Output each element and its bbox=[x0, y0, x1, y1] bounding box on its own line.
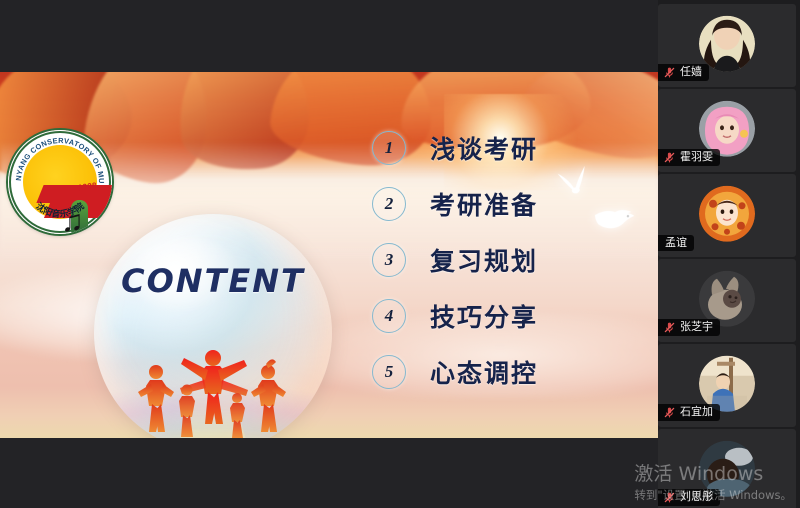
participant-tile[interactable]: 孟谊 bbox=[658, 174, 796, 257]
participant-name: 任嫱 bbox=[680, 66, 702, 78]
avatar bbox=[699, 355, 755, 411]
avatar bbox=[699, 440, 755, 496]
list-item-label: 复习规划 bbox=[430, 242, 538, 278]
school-logo: ♫ 1938 SHENYANG CONSERVATORY OF MUSIC 沈阳… bbox=[8, 130, 112, 234]
list-item-number: 2 bbox=[372, 187, 406, 221]
shared-screen-stage[interactable]: ♫ 1938 SHENYANG CONSERVATORY OF MUSIC 沈阳… bbox=[0, 0, 658, 508]
content-heading: CONTENT bbox=[94, 262, 332, 300]
content-sphere: CONTENT bbox=[94, 214, 332, 438]
list-item: 1 浅谈考研 bbox=[372, 120, 642, 176]
participant-tile[interactable]: 刘思彤 bbox=[658, 429, 796, 508]
running-silhouettes-icon bbox=[94, 336, 332, 438]
list-item: 2 考研准备 bbox=[372, 176, 642, 232]
participant-name-bar: 任嫱 bbox=[658, 64, 709, 81]
participant-name: 霍羽雯 bbox=[680, 151, 713, 163]
participant-name: 孟谊 bbox=[665, 237, 687, 249]
mic-muted-icon bbox=[663, 151, 676, 164]
participant-name-bar: 霍羽雯 bbox=[658, 149, 720, 166]
mic-muted-icon bbox=[663, 491, 676, 504]
list-item-number: 3 bbox=[372, 243, 406, 277]
participant-name: 张芝宇 bbox=[680, 321, 713, 333]
participant-name: 石宜加 bbox=[680, 406, 713, 418]
participant-name-bar: 刘思彤 bbox=[658, 489, 720, 506]
list-item-number: 4 bbox=[372, 299, 406, 333]
avatar bbox=[699, 15, 755, 71]
list-item-number: 5 bbox=[372, 355, 406, 389]
list-item: 4 技巧分享 bbox=[372, 288, 642, 344]
participant-tile[interactable]: 石宜加 bbox=[658, 344, 796, 427]
participant-tile[interactable]: 任嫱 bbox=[658, 4, 796, 87]
meeting-window: ♫ 1938 SHENYANG CONSERVATORY OF MUSIC 沈阳… bbox=[0, 0, 800, 508]
list-item-number: 1 bbox=[372, 131, 406, 165]
list-item-label: 技巧分享 bbox=[430, 298, 538, 334]
participant-name-bar: 孟谊 bbox=[658, 235, 694, 251]
participant-filmstrip[interactable]: 任嫱 bbox=[658, 0, 800, 508]
svg-text:沈阳音乐学院: 沈阳音乐学院 bbox=[34, 200, 86, 219]
mic-muted-icon bbox=[663, 406, 676, 419]
list-item-label: 考研准备 bbox=[430, 186, 538, 222]
mic-muted-icon bbox=[663, 321, 676, 334]
avatar bbox=[699, 100, 755, 156]
participant-name-bar: 张芝宇 bbox=[658, 319, 720, 336]
presentation-slide: ♫ 1938 SHENYANG CONSERVATORY OF MUSIC 沈阳… bbox=[0, 72, 658, 438]
participant-name-bar: 石宜加 bbox=[658, 404, 720, 421]
list-item-label: 心态调控 bbox=[430, 354, 538, 390]
content-list: 1 浅谈考研 2 考研准备 3 复习规划 4 技巧分享 5 心态调控 bbox=[372, 120, 642, 400]
mic-muted-icon bbox=[663, 66, 676, 79]
list-item: 3 复习规划 bbox=[372, 232, 642, 288]
list-item: 5 心态调控 bbox=[372, 344, 642, 400]
participant-tile[interactable]: 霍羽雯 bbox=[658, 89, 796, 172]
participant-tile[interactable]: 张芝宇 bbox=[658, 259, 796, 342]
logo-chinese-arc: 沈阳音乐学院 bbox=[8, 130, 112, 234]
avatar bbox=[699, 185, 755, 241]
avatar bbox=[699, 270, 755, 326]
logo-chinese-text: 沈阳音乐学院 bbox=[34, 200, 86, 219]
participant-name: 刘思彤 bbox=[680, 491, 713, 503]
list-item-label: 浅谈考研 bbox=[430, 130, 538, 166]
